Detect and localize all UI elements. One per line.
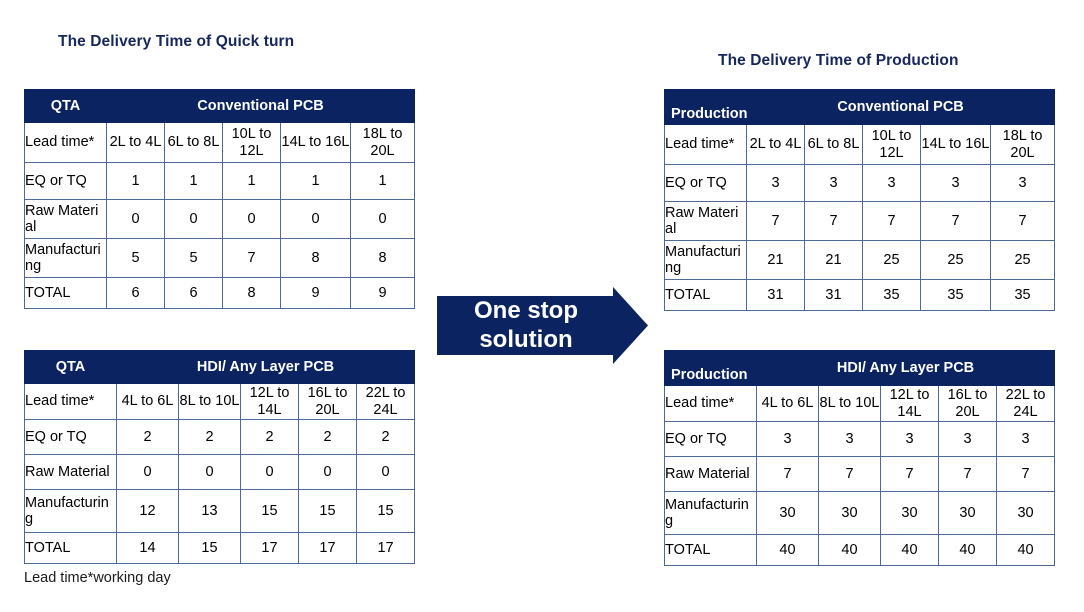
band-label-main: HDI/ Any Layer PCB [757, 351, 1055, 386]
table-row: Manufacturing 5 5 7 8 8 [25, 239, 415, 278]
cell-value: 15 [241, 490, 299, 533]
column-header: 14L to 16L [921, 125, 991, 165]
cell-value: 3 [939, 422, 997, 457]
cell-value: 9 [281, 278, 351, 309]
table-quickturn-conventional: QTA Conventional PCB Lead time* 2L to 4L… [24, 89, 415, 309]
cell-value: 8 [223, 278, 281, 309]
column-header: 4L to 6L [757, 386, 819, 422]
cell-value: 25 [921, 241, 991, 280]
table-row: EQ or TQ 2 2 2 2 2 [25, 420, 415, 455]
row-label: EQ or TQ [25, 163, 107, 200]
table-row: Raw Material 0 0 0 0 0 [25, 200, 415, 239]
cell-value: 35 [921, 280, 991, 311]
row-label: EQ or TQ [665, 165, 747, 202]
table-column-header-row: Lead time* 2L to 4L 6L to 8L 10L to 12L … [25, 123, 415, 163]
cell-value: 15 [299, 490, 357, 533]
cell-value: 3 [921, 165, 991, 202]
row-label: Raw Material [665, 457, 757, 492]
table-row: TOTAL 6 6 8 9 9 [25, 278, 415, 309]
cell-value: 3 [991, 165, 1055, 202]
column-header: 16L to 20L [299, 384, 357, 420]
column-header: 14L to 16L [281, 123, 351, 163]
row-label: TOTAL [25, 533, 117, 564]
table-row: Raw Material 7 7 7 7 7 [665, 457, 1055, 492]
cell-value: 7 [747, 202, 805, 241]
cell-value: 1 [165, 163, 223, 200]
table-column-header-row: Lead time* 2L to 4L 6L to 8L 10L to 12L … [665, 125, 1055, 165]
cell-value: 7 [921, 202, 991, 241]
row-label: Raw Material [25, 200, 107, 239]
cell-value: 40 [757, 535, 819, 566]
cell-value: 3 [881, 422, 939, 457]
cell-value: 5 [107, 239, 165, 278]
cell-value: 3 [997, 422, 1055, 457]
cell-value: 6 [107, 278, 165, 309]
band-label-main: HDI/ Any Layer PCB [117, 351, 415, 384]
cell-value: 35 [863, 280, 921, 311]
cell-value: 2 [241, 420, 299, 455]
cell-value: 0 [241, 455, 299, 490]
table-row: Raw Material 0 0 0 0 0 [25, 455, 415, 490]
cell-value: 1 [281, 163, 351, 200]
cell-value: 0 [357, 455, 415, 490]
cell-value: 31 [805, 280, 863, 311]
cell-value: 40 [819, 535, 881, 566]
row-label: TOTAL [665, 535, 757, 566]
cell-value: 30 [997, 492, 1055, 535]
cell-value: 7 [805, 202, 863, 241]
band-label-main: Conventional PCB [747, 90, 1055, 125]
band-label-left: Production [665, 351, 757, 386]
cell-value: 40 [939, 535, 997, 566]
cell-value: 21 [747, 241, 805, 280]
cell-value: 7 [863, 202, 921, 241]
column-header: 12L to 14L [241, 384, 299, 420]
row-label-header: Lead time* [25, 384, 117, 420]
cell-value: 2 [117, 420, 179, 455]
column-header: 8L to 10L [179, 384, 241, 420]
cell-value: 30 [819, 492, 881, 535]
cell-value: 25 [863, 241, 921, 280]
cell-value: 3 [747, 165, 805, 202]
column-header: 10L to 12L [863, 125, 921, 165]
cell-value: 21 [805, 241, 863, 280]
cell-value: 1 [223, 163, 281, 200]
cell-value: 0 [179, 455, 241, 490]
table-row: Manufacturing 30 30 30 30 30 [665, 492, 1055, 535]
table-row: Manufacturing 12 13 15 15 15 [25, 490, 415, 533]
cell-value: 0 [165, 200, 223, 239]
table-row: TOTAL 14 15 17 17 17 [25, 533, 415, 564]
row-label: Manufacturing [665, 492, 757, 535]
cell-value: 30 [881, 492, 939, 535]
cell-value: 25 [991, 241, 1055, 280]
column-header: 2L to 4L [747, 125, 805, 165]
cell-value: 0 [107, 200, 165, 239]
column-header: 8L to 10L [819, 386, 881, 422]
cell-value: 12 [117, 490, 179, 533]
cell-value: 8 [351, 239, 415, 278]
table-row: EQ or TQ 3 3 3 3 3 [665, 422, 1055, 457]
cell-value: 17 [299, 533, 357, 564]
cell-value: 17 [241, 533, 299, 564]
column-header: 16L to 20L [939, 386, 997, 422]
cell-value: 0 [223, 200, 281, 239]
right-arrow-icon [437, 287, 648, 364]
cell-value: 0 [117, 455, 179, 490]
cell-value: 31 [747, 280, 805, 311]
cell-value: 14 [117, 533, 179, 564]
row-label-header: Lead time* [665, 125, 747, 165]
column-header: 18L to 20L [351, 123, 415, 163]
band-label-left: QTA [25, 90, 107, 123]
cell-value: 7 [757, 457, 819, 492]
cell-value: 7 [997, 457, 1055, 492]
row-label: EQ or TQ [25, 420, 117, 455]
one-stop-solution-arrow [437, 287, 648, 364]
column-header: 4L to 6L [117, 384, 179, 420]
column-header: 6L to 8L [805, 125, 863, 165]
column-header: 12L to 14L [881, 386, 939, 422]
row-label: Raw Material [25, 455, 117, 490]
table-row: EQ or TQ 1 1 1 1 1 [25, 163, 415, 200]
cell-value: 7 [991, 202, 1055, 241]
row-label-header: Lead time* [665, 386, 757, 422]
table-column-header-row: Lead time* 4L to 6L 8L to 10L 12L to 14L… [665, 386, 1055, 422]
cell-value: 0 [351, 200, 415, 239]
row-label-header: Lead time* [25, 123, 107, 163]
cell-value: 8 [281, 239, 351, 278]
row-label: Manufacturing [25, 490, 117, 533]
band-label-main: Conventional PCB [107, 90, 415, 123]
table-row: EQ or TQ 3 3 3 3 3 [665, 165, 1055, 202]
cell-value: 1 [107, 163, 165, 200]
table-header-band: QTA HDI/ Any Layer PCB [25, 351, 415, 384]
cell-value: 7 [819, 457, 881, 492]
band-label-left: QTA [25, 351, 117, 384]
cell-value: 3 [805, 165, 863, 202]
cell-value: 30 [757, 492, 819, 535]
cell-value: 5 [165, 239, 223, 278]
table-header-band: Production Conventional PCB [665, 90, 1055, 125]
cell-value: 13 [179, 490, 241, 533]
cell-value: 35 [991, 280, 1055, 311]
table-row: Manufacturing 21 21 25 25 25 [665, 241, 1055, 280]
row-label: Raw Material [665, 202, 747, 241]
column-header: 18L to 20L [991, 125, 1055, 165]
column-header: 10L to 12L [223, 123, 281, 163]
band-label-left: Production [665, 90, 747, 125]
cell-value: 30 [939, 492, 997, 535]
cell-value: 3 [819, 422, 881, 457]
row-label: Manufacturing [25, 239, 107, 278]
row-label: EQ or TQ [665, 422, 757, 457]
cell-value: 7 [939, 457, 997, 492]
table-header-band: Production HDI/ Any Layer PCB [665, 351, 1055, 386]
production-section-title: The Delivery Time of Production [718, 52, 959, 70]
cell-value: 40 [997, 535, 1055, 566]
cell-value: 3 [757, 422, 819, 457]
cell-value: 0 [299, 455, 357, 490]
column-header: 22L to 24L [357, 384, 415, 420]
cell-value: 15 [179, 533, 241, 564]
cell-value: 0 [281, 200, 351, 239]
table-production-conventional: Production Conventional PCB Lead time* 2… [664, 89, 1055, 311]
lead-time-footnote: Lead time*working day [24, 570, 171, 586]
cell-value: 9 [351, 278, 415, 309]
cell-value: 7 [223, 239, 281, 278]
table-row: TOTAL 40 40 40 40 40 [665, 535, 1055, 566]
cell-value: 40 [881, 535, 939, 566]
cell-value: 15 [357, 490, 415, 533]
table-column-header-row: Lead time* 4L to 6L 8L to 10L 12L to 14L… [25, 384, 415, 420]
column-header: 22L to 24L [997, 386, 1055, 422]
quick-turn-section-title: The Delivery Time of Quick turn [58, 33, 294, 51]
column-header: 6L to 8L [165, 123, 223, 163]
cell-value: 3 [863, 165, 921, 202]
row-label: Manufacturing [665, 241, 747, 280]
cell-value: 17 [357, 533, 415, 564]
row-label: TOTAL [665, 280, 747, 311]
cell-value: 2 [357, 420, 415, 455]
table-production-hdi: Production HDI/ Any Layer PCB Lead time*… [664, 350, 1055, 566]
table-row: TOTAL 31 31 35 35 35 [665, 280, 1055, 311]
cell-value: 2 [299, 420, 357, 455]
cell-value: 1 [351, 163, 415, 200]
cell-value: 7 [881, 457, 939, 492]
table-row: Raw Material 7 7 7 7 7 [665, 202, 1055, 241]
table-header-band: QTA Conventional PCB [25, 90, 415, 123]
row-label: TOTAL [25, 278, 107, 309]
column-header: 2L to 4L [107, 123, 165, 163]
cell-value: 2 [179, 420, 241, 455]
table-quickturn-hdi: QTA HDI/ Any Layer PCB Lead time* 4L to … [24, 350, 415, 564]
cell-value: 6 [165, 278, 223, 309]
